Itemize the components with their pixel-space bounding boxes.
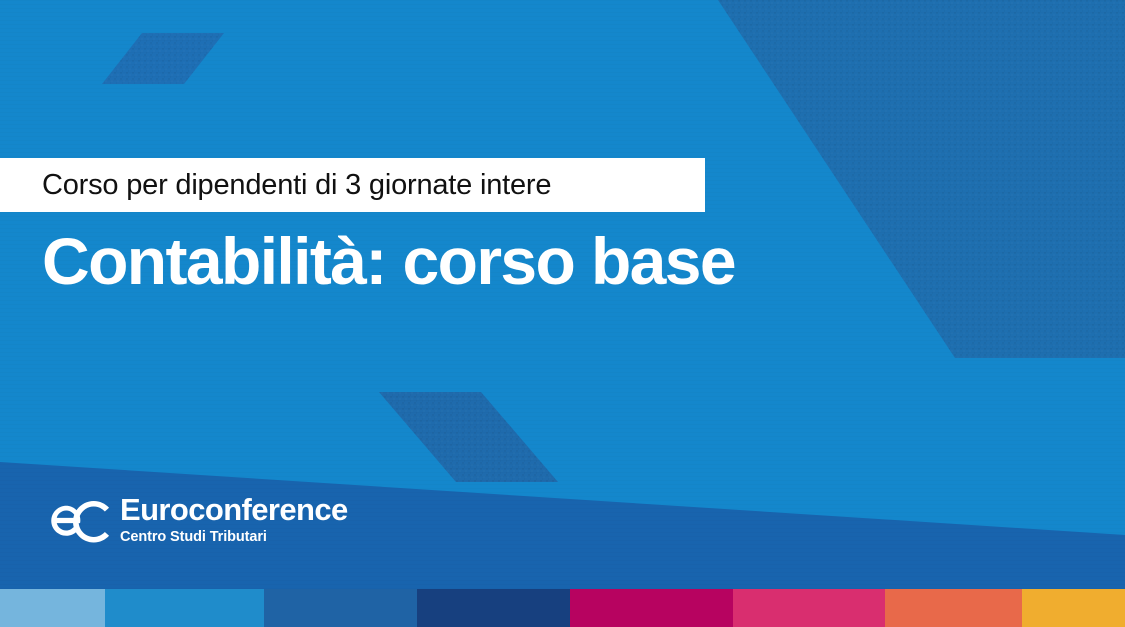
eyebrow-text: Corso per dipendenti di 3 giornate inter… [0, 171, 551, 200]
color-bar-swatch-azure [105, 589, 264, 627]
color-bar-swatch-amber [1022, 589, 1125, 627]
color-bar-swatch-navy [417, 589, 570, 627]
eyebrow-strip: Corso per dipendenti di 3 giornate inter… [0, 158, 705, 212]
color-bar-swatch-medium-blue [264, 589, 417, 627]
logo-name: Euroconference [120, 494, 348, 525]
brand-color-bar [0, 589, 1125, 627]
page-title: Contabilità: corso base [42, 228, 735, 294]
decorative-parallelogram-medium-texture [379, 392, 558, 482]
ec-monogram-icon [44, 497, 110, 543]
logo-wordmark: Euroconference Centro Studi Tributari [120, 494, 348, 545]
logo-tagline: Centro Studi Tributari [120, 530, 348, 545]
decorative-wedge-right [718, 0, 1125, 358]
color-bar-swatch-light-blue [0, 589, 105, 627]
course-promo-banner: Corso per dipendenti di 3 giornate inter… [0, 0, 1125, 627]
euroconference-logo: Euroconference Centro Studi Tributari [44, 494, 348, 545]
color-bar-swatch-orange [885, 589, 1022, 627]
decorative-parallelogram-small [102, 33, 224, 84]
color-bar-swatch-magenta [570, 589, 733, 627]
color-bar-swatch-pink [733, 589, 885, 627]
decorative-wedge-right-texture [718, 0, 1125, 358]
decorative-parallelogram-medium [379, 392, 558, 482]
decorative-parallelogram-small-texture [102, 33, 224, 84]
